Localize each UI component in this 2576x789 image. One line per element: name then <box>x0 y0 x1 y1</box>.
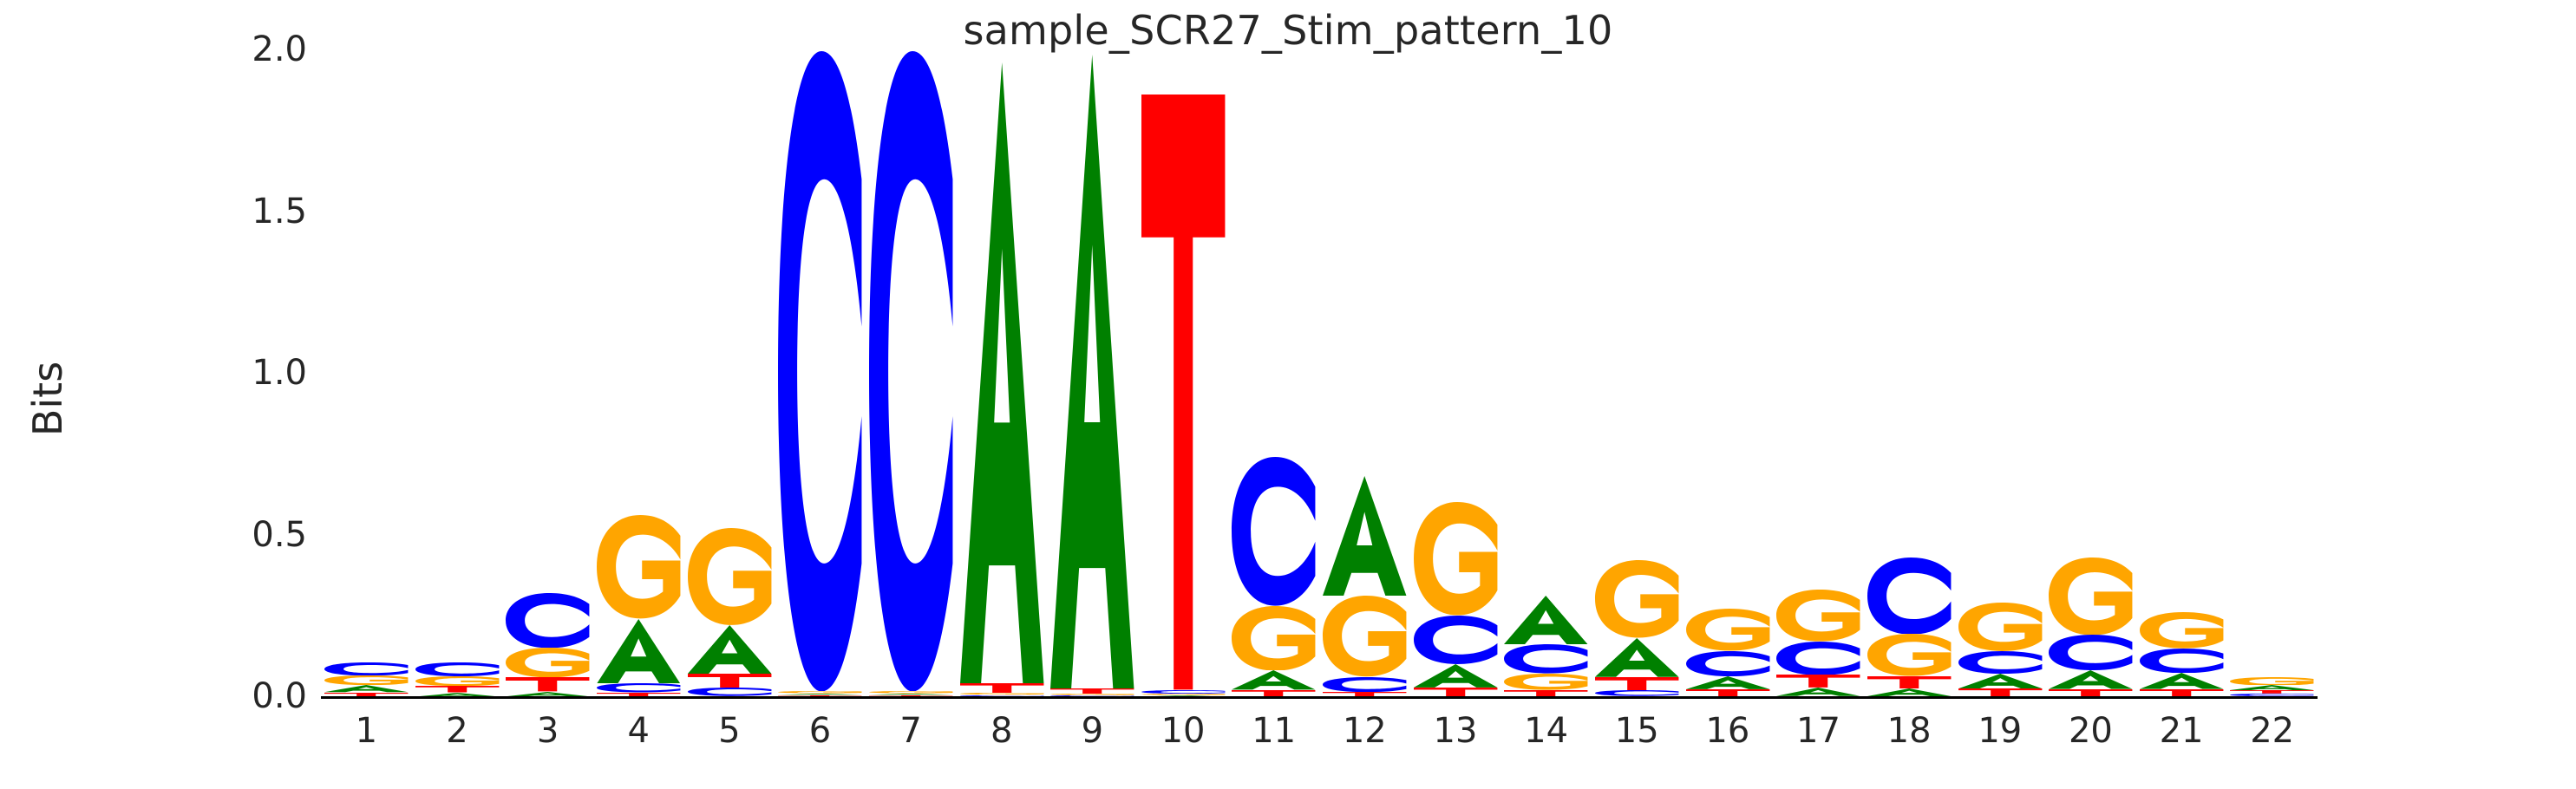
logo-stack[interactable] <box>1321 476 1408 696</box>
x-tick-label: 22 <box>2220 711 2324 751</box>
logo-stack[interactable] <box>1230 457 1317 696</box>
logo-letter-A <box>2138 673 2225 689</box>
x-tick-label: 10 <box>1131 711 1235 751</box>
logo-letter-G <box>1684 609 1771 650</box>
logo-letter-T <box>414 686 500 692</box>
logo-stack[interactable] <box>1502 596 1589 696</box>
x-tick-label: 3 <box>496 711 600 751</box>
x-tick-label: 19 <box>1948 711 2052 751</box>
logo-letter-G <box>595 515 682 618</box>
logo-letter-T <box>958 683 1045 693</box>
y-axis-label: Bits <box>24 9 76 789</box>
logo-stack[interactable] <box>595 515 682 696</box>
x-tick-label: 7 <box>859 711 963 751</box>
logo-letter-T <box>1957 688 2043 696</box>
logo-letter-G <box>2228 677 2315 686</box>
logo-letter-C <box>1593 690 1680 696</box>
logo-letter-G <box>2138 612 2225 649</box>
logo-letter-C <box>1321 677 1408 692</box>
x-tick-label: 2 <box>405 711 509 751</box>
x-tick-label: 16 <box>1676 711 1780 751</box>
logo-letter-C <box>1412 616 1499 664</box>
logo-stack[interactable] <box>1049 55 1135 696</box>
logo-stack[interactable] <box>504 593 591 696</box>
logo-letter-G <box>414 676 500 686</box>
logo-stack[interactable] <box>1684 609 1771 696</box>
x-tick-label: 11 <box>1222 711 1326 751</box>
logo-letter-A <box>1049 55 1135 688</box>
logo-letter-T <box>1502 690 1589 696</box>
logo-letter-T <box>2138 689 2225 696</box>
logo-letter-G <box>1412 502 1499 616</box>
logo-letter-A <box>686 625 773 674</box>
logo-letter-A <box>1593 638 1680 677</box>
logo-letter-A <box>2047 670 2134 689</box>
logo-letter-C <box>1502 644 1589 674</box>
logo-stack[interactable] <box>2047 558 2134 696</box>
logo-letter-G <box>1957 603 2043 651</box>
logo-stack[interactable] <box>958 62 1045 696</box>
x-tick-label: 1 <box>314 711 418 751</box>
x-tick-label: 6 <box>768 711 873 751</box>
logo-letter-G <box>504 648 591 677</box>
page-title: sample_SCR27_Stim_pattern_10 <box>0 7 2576 54</box>
logo-letter-C <box>1866 558 1952 635</box>
x-tick-label: 18 <box>1857 711 1961 751</box>
logo-letter-G <box>1502 674 1589 690</box>
logo-letter-T <box>2047 689 2134 696</box>
x-tick-label: 15 <box>1585 711 1689 751</box>
x-tick-label: 17 <box>1767 711 1871 751</box>
logo-letter-T <box>1684 689 1771 696</box>
y-tick-label: 1.5 <box>203 192 307 231</box>
logo-letter-C <box>1684 651 1771 676</box>
x-axis-line <box>321 696 2318 699</box>
x-tick-label: 13 <box>1403 711 1507 751</box>
x-tick-label: 5 <box>677 711 781 751</box>
logo-letter-C <box>1957 651 2043 674</box>
x-tick-label: 21 <box>2129 711 2233 751</box>
x-tick-label: 12 <box>1312 711 1416 751</box>
logo-letter-A <box>1321 476 1408 596</box>
logo-letter-C <box>2138 649 2225 673</box>
logo-letter-C <box>323 662 409 675</box>
logo-letter-A <box>958 62 1045 683</box>
logo-letter-T <box>1412 688 1499 696</box>
y-tick-label: 1.0 <box>203 353 307 393</box>
logo-stack[interactable] <box>1957 603 2043 696</box>
logo-stack[interactable] <box>2138 612 2225 696</box>
logo-letter-C <box>1230 457 1317 606</box>
logo-stack[interactable] <box>2228 677 2315 696</box>
x-tick-label: 4 <box>586 711 690 751</box>
logo-letter-T <box>1775 675 1861 688</box>
x-tick-label: 9 <box>1040 711 1144 751</box>
logo-stack[interactable] <box>1775 590 1861 696</box>
logo-letter-T <box>1230 690 1317 696</box>
logo-stack[interactable] <box>1866 558 1952 696</box>
logo-letter-G <box>1230 606 1317 671</box>
logo-letter-G <box>1775 590 1861 642</box>
logo-letter-G <box>1321 596 1408 676</box>
logo-stack[interactable] <box>867 51 954 696</box>
logo-stack[interactable] <box>1593 560 1680 696</box>
logo-letter-G <box>686 528 773 625</box>
logo-letter-G <box>1593 560 1680 638</box>
x-tick-label: 8 <box>950 711 1054 751</box>
logo-letter-C <box>504 593 591 648</box>
logo-letter-A <box>1957 674 2043 688</box>
logo-letter-A <box>1775 688 1861 696</box>
logo-letter-C <box>867 51 954 692</box>
y-tick-label: 2.0 <box>203 29 307 69</box>
logo-stack[interactable] <box>1412 502 1499 696</box>
logo-letter-A <box>1684 676 1771 689</box>
logo-letter-T <box>1140 95 1226 689</box>
logo-letter-T <box>1593 677 1680 691</box>
logo-letter-C <box>595 683 682 692</box>
logo-letter-C <box>686 688 773 696</box>
logo-letter-C <box>776 51 863 692</box>
y-tick-label: 0.0 <box>203 676 307 716</box>
logo-letter-A <box>1230 670 1317 689</box>
logo-letter-A <box>595 619 682 684</box>
logo-letter-T <box>1866 676 1952 688</box>
logo-stack[interactable] <box>414 662 500 696</box>
logo-letter-G <box>1866 634 1952 675</box>
logo-stack[interactable] <box>323 662 409 696</box>
logo-stack[interactable] <box>776 51 863 696</box>
y-tick-label: 0.5 <box>203 515 307 555</box>
logo-letter-A <box>323 685 409 692</box>
logo-stack[interactable] <box>1140 95 1226 696</box>
logo-letter-T <box>686 674 773 688</box>
logo-letter-G <box>323 675 409 685</box>
logo-letter-A <box>1866 688 1952 696</box>
logo-letter-G <box>2047 558 2134 636</box>
logo-letter-A <box>1502 596 1589 644</box>
plot-area <box>321 49 2318 696</box>
logo-stack[interactable] <box>686 528 773 696</box>
logo-letter-C <box>414 662 500 676</box>
x-tick-label: 20 <box>2038 711 2142 751</box>
logo-letter-A <box>1412 664 1499 688</box>
sequence-logo-figure: sample_SCR27_Stim_pattern_10 Bits 0.00.5… <box>0 0 2576 780</box>
logo-letter-C <box>2047 635 2134 670</box>
logo-letter-C <box>1775 642 1861 675</box>
logo-letter-T <box>504 677 591 691</box>
x-tick-label: 14 <box>1494 711 1599 751</box>
